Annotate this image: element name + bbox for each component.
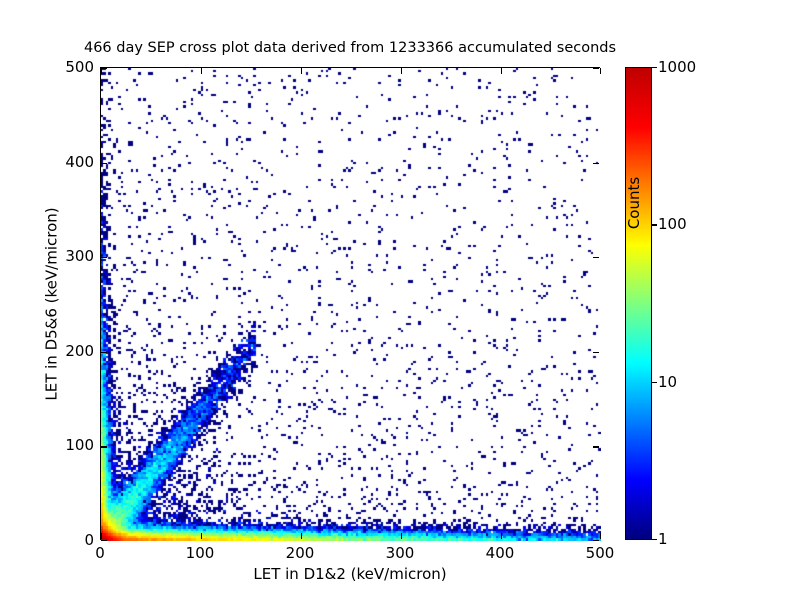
colorbar-tick-10 xyxy=(652,382,657,383)
x-tick-400 xyxy=(501,533,502,539)
x-tick-label-300: 300 xyxy=(386,544,415,562)
colorbar-tick-100 xyxy=(652,224,657,225)
y-tick-label-300: 300 xyxy=(65,247,94,265)
x-tick-300 xyxy=(401,533,402,539)
y-tick-400 xyxy=(593,163,599,164)
colorbar-tick-label-100: 100 xyxy=(658,215,687,233)
y-tick-0 xyxy=(593,540,599,541)
y-tick-label-0: 0 xyxy=(84,531,94,549)
x-tick-label-100: 100 xyxy=(186,544,215,562)
x-tick-label-0: 0 xyxy=(95,544,105,562)
y-tick-label-200: 200 xyxy=(65,342,94,360)
y-tick-label-400: 400 xyxy=(65,153,94,171)
x-tick-200 xyxy=(301,533,302,539)
x-tick-label-200: 200 xyxy=(286,544,315,562)
y-tick-300 xyxy=(593,257,599,258)
figure-canvas: 466 day SEP cross plot data derived from… xyxy=(0,0,800,600)
y-tick-label-500: 500 xyxy=(65,58,94,76)
colorbar-tick-label-1: 1 xyxy=(658,530,668,548)
colorbar-label: Counts xyxy=(625,103,643,303)
y-tick-200 xyxy=(593,352,599,353)
x-tick-200 xyxy=(301,68,302,74)
colorbar-tick-label-1000: 1000 xyxy=(658,58,696,76)
x-tick-label-500: 500 xyxy=(586,544,615,562)
y-tick-400 xyxy=(101,163,107,164)
y-tick-500 xyxy=(593,68,599,69)
y-tick-label-100: 100 xyxy=(65,436,94,454)
plot-area[interactable] xyxy=(100,67,600,540)
y-tick-100 xyxy=(593,446,599,447)
x-tick-100 xyxy=(201,68,202,74)
y-axis-label: LET in D5&6 (keV/micron) xyxy=(43,68,61,541)
scatter-density-canvas xyxy=(101,68,601,541)
colorbar-tick-label-10: 10 xyxy=(658,373,677,391)
colorbar-tick-1 xyxy=(652,539,657,540)
y-tick-300 xyxy=(101,257,107,258)
y-tick-200 xyxy=(101,352,107,353)
x-tick-300 xyxy=(401,68,402,74)
x-tick-500 xyxy=(600,533,601,539)
x-tick-500 xyxy=(600,68,601,74)
plot-title-line-1: 466 day SEP cross plot data derived from… xyxy=(0,40,700,57)
x-tick-400 xyxy=(501,68,502,74)
colorbar-tick-1000 xyxy=(652,67,657,68)
x-tick-0 xyxy=(101,533,102,539)
y-tick-500 xyxy=(101,68,107,69)
x-tick-label-400: 400 xyxy=(486,544,515,562)
y-tick-0 xyxy=(101,540,107,541)
y-tick-100 xyxy=(101,446,107,447)
x-tick-100 xyxy=(201,533,202,539)
x-axis-label: LET in D1&2 (keV/micron) xyxy=(100,565,600,583)
